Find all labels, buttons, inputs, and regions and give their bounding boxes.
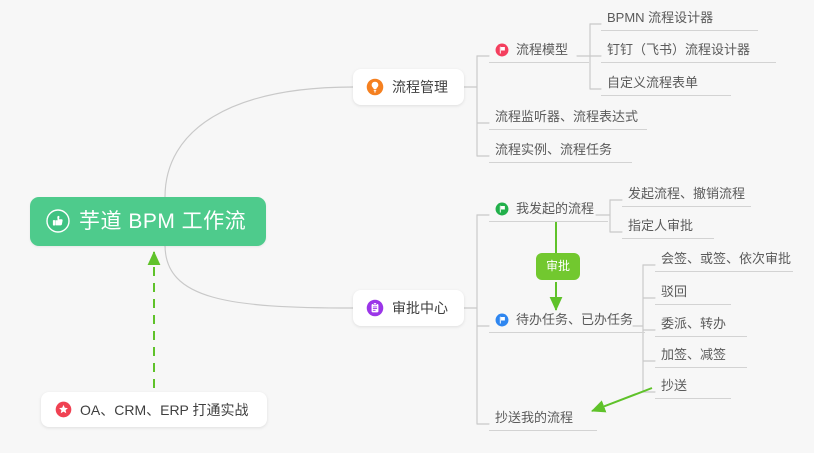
leaf-label-delegate-transfer: 委派、转办 <box>661 317 726 331</box>
approval-tag-badge[interactable]: 审批 <box>536 253 580 280</box>
leaf-node-todo-done[interactable]: 待办任务、已办任务 <box>489 313 645 333</box>
leaf-node-bpmn-designer[interactable]: BPMN 流程设计器 <box>601 11 758 31</box>
edge-root-to-process-management <box>165 87 353 197</box>
leaf-label-listener-expression: 流程监听器、流程表达式 <box>495 110 638 124</box>
leaf-label-cc-to-me: 抄送我的流程 <box>495 411 573 425</box>
branch-node-approval-center[interactable]: 审批中心 <box>353 290 464 326</box>
leaf-node-add-remove-sign[interactable]: 加签、减签 <box>655 348 747 368</box>
leaf-label-countersign: 会签、或签、依次审批 <box>661 252 791 266</box>
edge-root-to-approval-center <box>165 245 353 308</box>
approval-tag-label: 审批 <box>546 259 570 273</box>
root-node[interactable]: 芋道 BPM 工作流 <box>30 197 266 246</box>
leaf-node-designated-approval[interactable]: 指定人审批 <box>622 219 714 239</box>
branch-node-process-management[interactable]: 流程管理 <box>353 69 464 105</box>
leaf-label-todo-done: 待办任务、已办任务 <box>516 313 633 327</box>
leaf-label-reject: 驳回 <box>661 285 687 299</box>
flag-icon <box>495 202 509 216</box>
flag-icon <box>495 313 509 327</box>
leaf-node-start-cancel[interactable]: 发起流程、撤销流程 <box>622 187 751 207</box>
clipboard-icon <box>366 299 384 317</box>
leaf-node-delegate-transfer[interactable]: 委派、转办 <box>655 317 747 337</box>
leaf-label-start-cancel: 发起流程、撤销流程 <box>628 187 745 201</box>
thumbs-up-icon <box>46 209 70 233</box>
leaf-node-custom-form[interactable]: 自定义流程表单 <box>601 76 731 96</box>
leaf-node-listener-expression[interactable]: 流程监听器、流程表达式 <box>489 110 647 130</box>
leaf-node-cc-to-me[interactable]: 抄送我的流程 <box>489 411 597 431</box>
leaf-node-my-initiated[interactable]: 我发起的流程 <box>489 202 608 222</box>
leaf-label-my-initiated: 我发起的流程 <box>516 202 594 216</box>
lightbulb-icon <box>366 78 384 96</box>
arrow-cc-to-ccme <box>592 388 652 411</box>
mindmap-canvas: 芋道 BPM 工作流 OA、CRM、ERP 打通实战 流程管理 <box>0 0 814 453</box>
bottom-note-label: OA、CRM、ERP 打通实战 <box>80 403 249 417</box>
leaf-label-designated-approval: 指定人审批 <box>628 219 693 233</box>
leaf-label-bpmn-designer: BPMN 流程设计器 <box>607 11 713 25</box>
leaf-label-cc: 抄送 <box>661 379 687 393</box>
leaf-label-add-remove-sign: 加签、减签 <box>661 348 726 362</box>
bottom-note-node[interactable]: OA、CRM、ERP 打通实战 <box>41 392 267 427</box>
leaf-label-dingtalk-designer: 钉钉（飞书）流程设计器 <box>607 43 750 57</box>
leaf-node-countersign[interactable]: 会签、或签、依次审批 <box>655 252 793 272</box>
leaf-label-custom-form: 自定义流程表单 <box>607 76 698 90</box>
leaf-label-instance-task: 流程实例、流程任务 <box>495 143 612 157</box>
root-label: 芋道 BPM 工作流 <box>79 211 246 232</box>
flag-icon <box>495 43 509 57</box>
leaf-node-dingtalk-designer[interactable]: 钉钉（飞书）流程设计器 <box>601 43 776 63</box>
leaf-node-reject[interactable]: 驳回 <box>655 285 731 305</box>
star-icon <box>55 401 72 418</box>
leaf-node-cc[interactable]: 抄送 <box>655 379 731 399</box>
leaf-node-instance-task[interactable]: 流程实例、流程任务 <box>489 143 632 163</box>
leaf-node-process-model[interactable]: 流程模型 <box>489 43 589 63</box>
leaf-label-process-model: 流程模型 <box>516 43 568 57</box>
branch-label-approval-center: 审批中心 <box>392 301 448 315</box>
branch-label-process-management: 流程管理 <box>392 80 448 94</box>
